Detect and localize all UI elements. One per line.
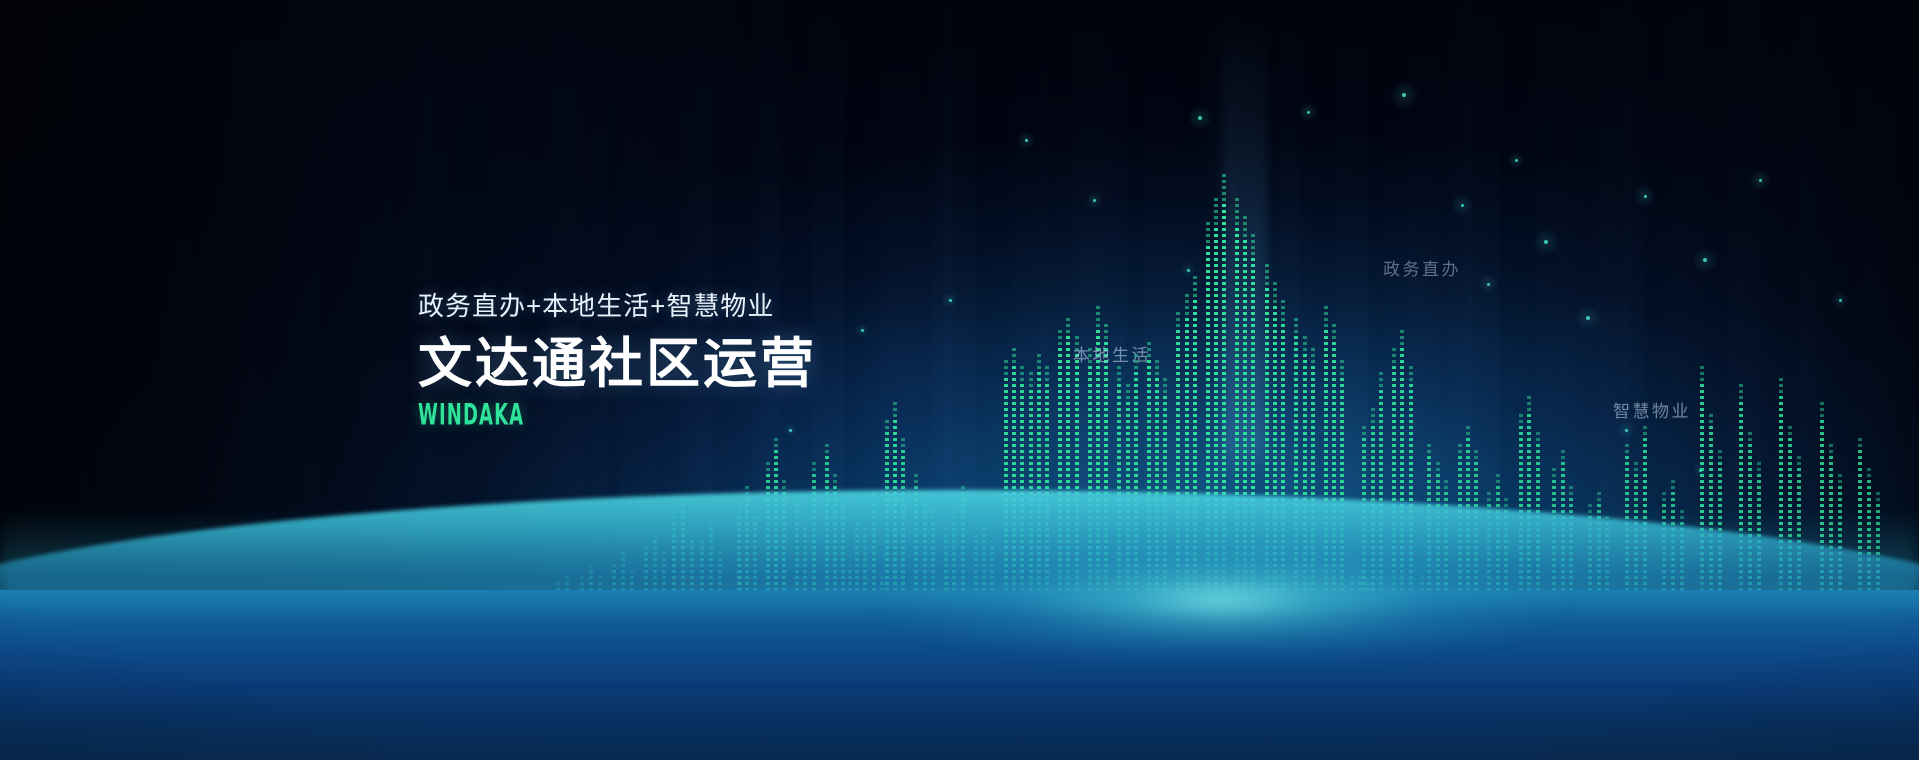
poster-canvas: 政务直办 本地生活 智慧物业 政务直办+本地生活+智慧物业 文达通社区运营 WI… [0, 0, 1919, 760]
vignette-overlay [0, 0, 1919, 760]
